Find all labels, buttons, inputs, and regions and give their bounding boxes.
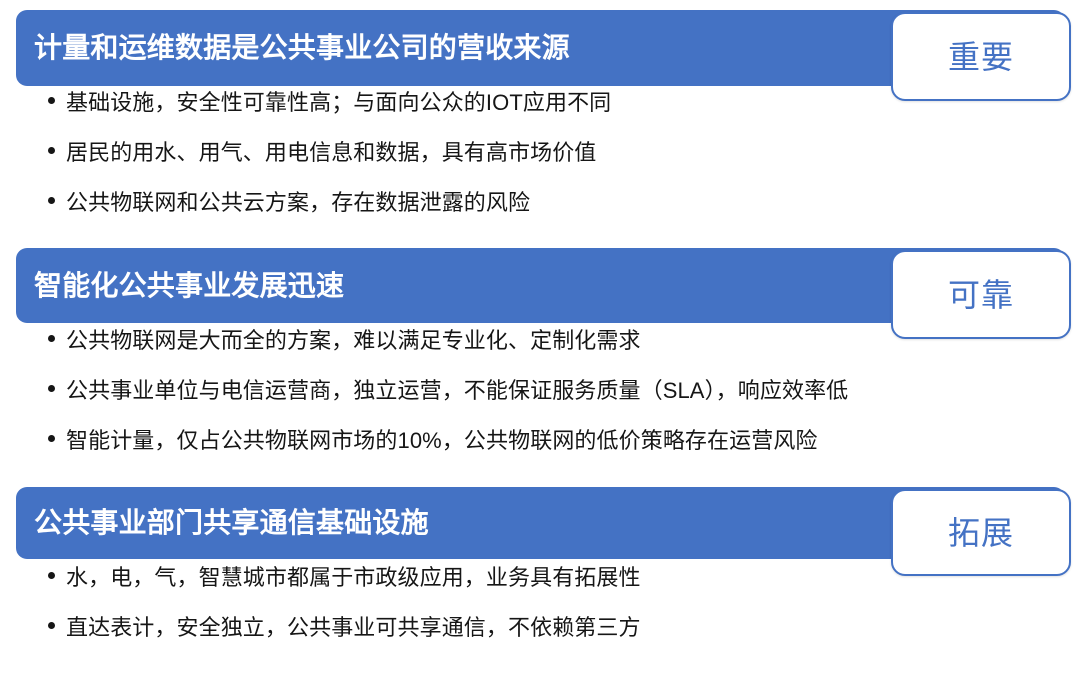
bullet-item: 公共物联网是大而全的方案，难以满足专业化、定制化需求 [48, 330, 848, 380]
section-badge-label: 可靠 [948, 279, 1014, 311]
content-section: 计量和运维数据是公共事业公司的营收来源 重要 基础设施，安全性可靠性高；与面向公… [0, 0, 1080, 86]
bullet-text: 智能计量，仅占公共物联网市场的10%，公共物联网的低价策略存在运营风险 [66, 430, 818, 452]
bullet-item: 居民的用水、用气、用电信息和数据，具有高市场价值 [48, 142, 611, 192]
slide-canvas: 计量和运维数据是公共事业公司的营收来源 重要 基础设施，安全性可靠性高；与面向公… [0, 0, 1080, 684]
section-badge[interactable]: 重要 [891, 12, 1071, 101]
bullet-text: 公共事业单位与电信运营商，独立运营，不能保证服务质量（SLA），响应效率低 [66, 380, 848, 402]
bullet-item: 基础设施，安全性可靠性高；与面向公众的IOT应用不同 [48, 92, 611, 142]
bullet-dot-icon [48, 572, 55, 579]
section-badge[interactable]: 可靠 [891, 250, 1071, 339]
bullet-text: 水，电，气，智慧城市都属于市政级应用，业务具有拓展性 [66, 567, 641, 589]
section-badge-label: 重要 [948, 41, 1014, 73]
section-title: 公共事业部门共享通信基础设施 [16, 509, 429, 537]
section-header-bar: 公共事业部门共享通信基础设施 拓展 [16, 487, 1065, 559]
section-title: 计量和运维数据是公共事业公司的营收来源 [16, 34, 570, 62]
bullet-item: 水，电，气，智慧城市都属于市政级应用，业务具有拓展性 [48, 567, 641, 617]
section-title: 智能化公共事业发展迅速 [16, 272, 344, 300]
bullet-list: 公共物联网是大而全的方案，难以满足专业化、定制化需求 公共事业单位与电信运营商，… [48, 330, 848, 480]
bullet-dot-icon [48, 435, 55, 442]
section-header-bar: 计量和运维数据是公共事业公司的营收来源 重要 [16, 10, 1065, 86]
bullet-dot-icon [48, 197, 55, 204]
section-badge[interactable]: 拓展 [891, 489, 1071, 576]
bullet-dot-icon [48, 147, 55, 154]
bullet-dot-icon [48, 385, 55, 392]
section-badge-label: 拓展 [948, 517, 1014, 549]
bullet-list: 水，电，气，智慧城市都属于市政级应用，业务具有拓展性 直达表计，安全独立，公共事… [48, 567, 641, 667]
bullet-text: 公共物联网是大而全的方案，难以满足专业化、定制化需求 [66, 330, 641, 352]
bullet-item: 智能计量，仅占公共物联网市场的10%，公共物联网的低价策略存在运营风险 [48, 430, 848, 480]
bullet-text: 公共物联网和公共云方案，存在数据泄露的风险 [66, 192, 530, 214]
bullet-item: 直达表计，安全独立，公共事业可共享通信，不依赖第三方 [48, 617, 641, 667]
bullet-dot-icon [48, 335, 55, 342]
bullet-text: 直达表计，安全独立，公共事业可共享通信，不依赖第三方 [66, 617, 641, 639]
content-section: 智能化公共事业发展迅速 可靠 公共物联网是大而全的方案，难以满足专业化、定制化需… [0, 238, 1080, 323]
bullet-text: 居民的用水、用气、用电信息和数据，具有高市场价值 [66, 142, 596, 164]
bullet-item: 公共物联网和公共云方案，存在数据泄露的风险 [48, 192, 611, 242]
section-header-bar: 智能化公共事业发展迅速 可靠 [16, 248, 1065, 323]
bullet-dot-icon [48, 97, 55, 104]
bullet-text: 基础设施，安全性可靠性高；与面向公众的IOT应用不同 [66, 92, 611, 114]
bullet-list: 基础设施，安全性可靠性高；与面向公众的IOT应用不同 居民的用水、用气、用电信息… [48, 92, 611, 242]
bullet-dot-icon [48, 622, 55, 629]
content-section: 公共事业部门共享通信基础设施 拓展 水，电，气，智慧城市都属于市政级应用，业务具… [0, 477, 1080, 559]
bullet-item: 公共事业单位与电信运营商，独立运营，不能保证服务质量（SLA），响应效率低 [48, 380, 848, 430]
